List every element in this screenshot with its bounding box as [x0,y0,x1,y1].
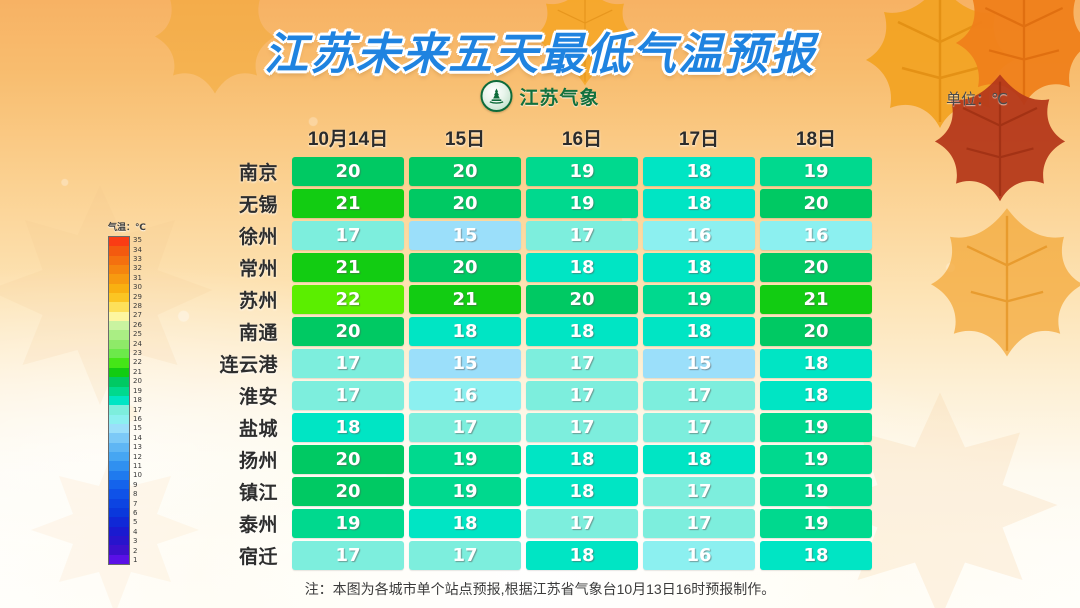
legend-label: 35 [133,236,142,245]
forecast-table: 10月14日15日16日17日18日 南京2020191819无锡2120191… [192,124,872,573]
temperature-cell: 20 [760,253,872,282]
row-label-city: 徐州 [192,222,292,249]
legend-swatch [109,471,129,480]
legend-swatch [109,284,129,293]
table-row: 连云港1715171518 [192,349,872,378]
legend-label: 23 [133,349,142,358]
header-city-spacer [192,124,292,151]
legend-label: 7 [133,499,142,508]
temperature-cell: 16 [760,221,872,250]
legend-tick-labels: 3534333231302928272625242322212019181716… [133,236,142,565]
legend-label: 24 [133,339,142,348]
temperature-cell: 17 [643,477,755,506]
temperature-cell: 17 [526,509,638,538]
legend-swatch [109,368,129,377]
legend-swatch [109,443,129,452]
row-label-city: 盐城 [192,414,292,441]
row-label-city: 常州 [192,254,292,281]
legend-label: 13 [133,443,142,452]
temperature-cell: 19 [760,509,872,538]
legend-swatch [109,555,129,564]
legend-label: 29 [133,292,142,301]
legend-swatch [109,377,129,386]
temperature-cell: 17 [526,381,638,410]
temperature-cell: 18 [643,189,755,218]
legend-swatch [109,508,129,517]
temperature-cell: 17 [292,221,404,250]
row-label-city: 宿迁 [192,542,292,569]
temperature-cell: 20 [760,189,872,218]
temperature-cell: 19 [760,445,872,474]
table-row: 淮安1716171718 [192,381,872,410]
legend-label: 19 [133,387,142,396]
legend-swatch [109,452,129,461]
temperature-cell: 19 [643,285,755,314]
temperature-cell: 17 [409,541,521,570]
weather-forecast-infographic: 江苏未来五天最低气温预报 江苏气象 单位：℃ 气温：℃ 353433323130… [0,0,1080,608]
temperature-cell: 20 [409,157,521,186]
legend-swatch [109,302,129,311]
temperature-cell: 17 [292,349,404,378]
temperature-cell: 15 [643,349,755,378]
temperature-cell: 18 [643,253,755,282]
row-label-city: 无锡 [192,190,292,217]
legend-label: 34 [133,245,142,254]
legend-label: 32 [133,264,142,273]
temperature-cell: 16 [409,381,521,410]
temperature-cell: 18 [526,541,638,570]
temperature-cell: 19 [760,413,872,442]
column-header-date: 16日 [526,124,638,151]
temperature-cell: 19 [292,509,404,538]
legend-label: 18 [133,396,142,405]
temperature-cell: 21 [292,253,404,282]
legend-label: 20 [133,377,142,386]
legend-swatch [109,517,129,526]
legend-label: 28 [133,302,142,311]
row-label-city: 南通 [192,318,292,345]
page-title: 江苏未来五天最低气温预报 [0,18,1080,82]
temperature-cell: 18 [760,381,872,410]
temperature-cell: 19 [760,477,872,506]
legend-swatch [109,312,129,321]
legend-swatch [109,415,129,424]
temperature-cell: 18 [409,509,521,538]
temperature-cell: 18 [760,349,872,378]
maple-leaf-right-mid [912,195,1080,385]
column-header-date: 18日 [760,124,872,151]
legend-swatch [109,246,129,255]
legend-swatch [109,340,129,349]
legend-swatch [109,527,129,536]
legend-label: 15 [133,424,142,433]
legend-color-bar [108,236,130,565]
footnote: 注：本图为各城市单个站点预报,根据江苏省气象台10月13日16时预报制作。 [0,579,1080,599]
brand-logo: 江苏气象 [480,80,599,112]
temperature-cell: 15 [409,349,521,378]
temperature-cell: 17 [526,349,638,378]
legend-swatch [109,545,129,554]
table-row: 常州2120181820 [192,253,872,282]
temperature-cell: 17 [526,413,638,442]
temperature-cell: 21 [760,285,872,314]
legend-label: 16 [133,415,142,424]
temperature-cell: 16 [643,541,755,570]
legend-label: 14 [133,434,142,443]
legend-label: 27 [133,311,142,320]
legend-label: 5 [133,518,142,527]
temperature-cell: 22 [292,285,404,314]
legend-label: 4 [133,528,142,537]
legend-label: 21 [133,368,142,377]
legend-label: 26 [133,321,142,330]
temperature-cell: 21 [292,189,404,218]
legend-label: 2 [133,546,142,555]
legend-swatch [109,536,129,545]
legend-swatch [109,265,129,274]
temperature-cell: 18 [409,317,521,346]
temperature-cell: 18 [526,477,638,506]
table-body: 南京2020191819无锡2120191820徐州1715171616常州21… [192,157,872,570]
temperature-cell: 18 [643,317,755,346]
legend-swatch [109,480,129,489]
temperature-cell: 20 [526,285,638,314]
temperature-cell: 18 [526,445,638,474]
temperature-cell: 20 [292,477,404,506]
legend-label: 1 [133,556,142,565]
legend-label: 10 [133,471,142,480]
temperature-cell: 19 [760,157,872,186]
table-row: 苏州2221201921 [192,285,872,314]
table-row: 南京2020191819 [192,157,872,186]
legend-swatch [109,293,129,302]
legend-label: 8 [133,490,142,499]
legend-label: 30 [133,283,142,292]
temperature-cell: 18 [760,541,872,570]
temperature-cell: 15 [409,221,521,250]
legend-label: 22 [133,358,142,367]
legend-label: 33 [133,255,142,264]
legend-label: 25 [133,330,142,339]
table-row: 无锡2120191820 [192,189,872,218]
legend-swatch [109,461,129,470]
column-header-date: 15日 [409,124,521,151]
table-row: 扬州2019181819 [192,445,872,474]
temperature-cell: 18 [526,253,638,282]
row-label-city: 淮安 [192,382,292,409]
table-row: 宿迁1717181618 [192,541,872,570]
row-label-city: 泰州 [192,510,292,537]
row-label-city: 苏州 [192,286,292,313]
legend-label: 31 [133,274,142,283]
legend-swatch [109,349,129,358]
legend-label: 9 [133,481,142,490]
legend-swatch [109,274,129,283]
temperature-cell: 20 [760,317,872,346]
legend-label: 11 [133,462,142,471]
legend-swatch [109,424,129,433]
row-label-city: 扬州 [192,446,292,473]
legend-swatch [109,396,129,405]
temperature-cell: 19 [526,189,638,218]
temperature-cell: 20 [292,445,404,474]
row-label-city: 镇江 [192,478,292,505]
temperature-cell: 20 [409,189,521,218]
legend-swatch [109,387,129,396]
legend-swatch [109,256,129,265]
temperature-cell: 20 [292,317,404,346]
temperature-cell: 18 [643,445,755,474]
temperature-cell: 17 [526,221,638,250]
legend-swatch [109,330,129,339]
legend-label: 17 [133,405,142,414]
legend-swatch [109,358,129,367]
legend-swatch [109,489,129,498]
temperature-cell: 20 [292,157,404,186]
row-label-city: 连云港 [192,350,292,377]
temperature-cell: 17 [643,413,755,442]
temperature-cell: 17 [643,509,755,538]
legend-swatch [109,321,129,330]
temperature-cell: 17 [643,381,755,410]
logo-label: 江苏气象 [519,83,599,110]
legend-swatch [109,433,129,442]
date-header-group: 10月14日15日16日17日18日 [292,124,872,151]
legend-swatch [109,237,129,246]
temperature-cell: 18 [292,413,404,442]
temperature-cell: 17 [292,381,404,410]
table-row: 泰州1918171719 [192,509,872,538]
temperature-cell: 21 [409,285,521,314]
temperature-cell: 17 [292,541,404,570]
temperature-cell: 19 [409,445,521,474]
temperature-cell: 19 [409,477,521,506]
legend-title: 气温：℃ [108,220,166,233]
row-label-city: 南京 [192,158,292,185]
table-row: 徐州1715171616 [192,221,872,250]
legend-swatch [109,405,129,414]
unit-label: 单位：℃ [946,88,1008,109]
temperature-cell: 17 [409,413,521,442]
temperature-cell: 20 [409,253,521,282]
temperature-cell: 18 [643,157,755,186]
legend-label: 12 [133,452,142,461]
legend-label: 6 [133,509,142,518]
table-header-row: 10月14日15日16日17日18日 [192,124,872,151]
table-row: 南通2018181820 [192,317,872,346]
table-row: 盐城1817171719 [192,413,872,442]
temperature-cell: 18 [526,317,638,346]
temperature-cell: 16 [643,221,755,250]
column-header-date: 17日 [643,124,755,151]
legend-swatch [109,499,129,508]
temperature-color-legend: 气温：℃ 35343332313029282726252423222120191… [108,220,166,565]
column-header-date: 10月14日 [292,124,404,151]
legend-label: 3 [133,537,142,546]
table-row: 镇江2019181719 [192,477,872,506]
weather-bureau-icon [480,80,512,112]
temperature-cell: 19 [526,157,638,186]
